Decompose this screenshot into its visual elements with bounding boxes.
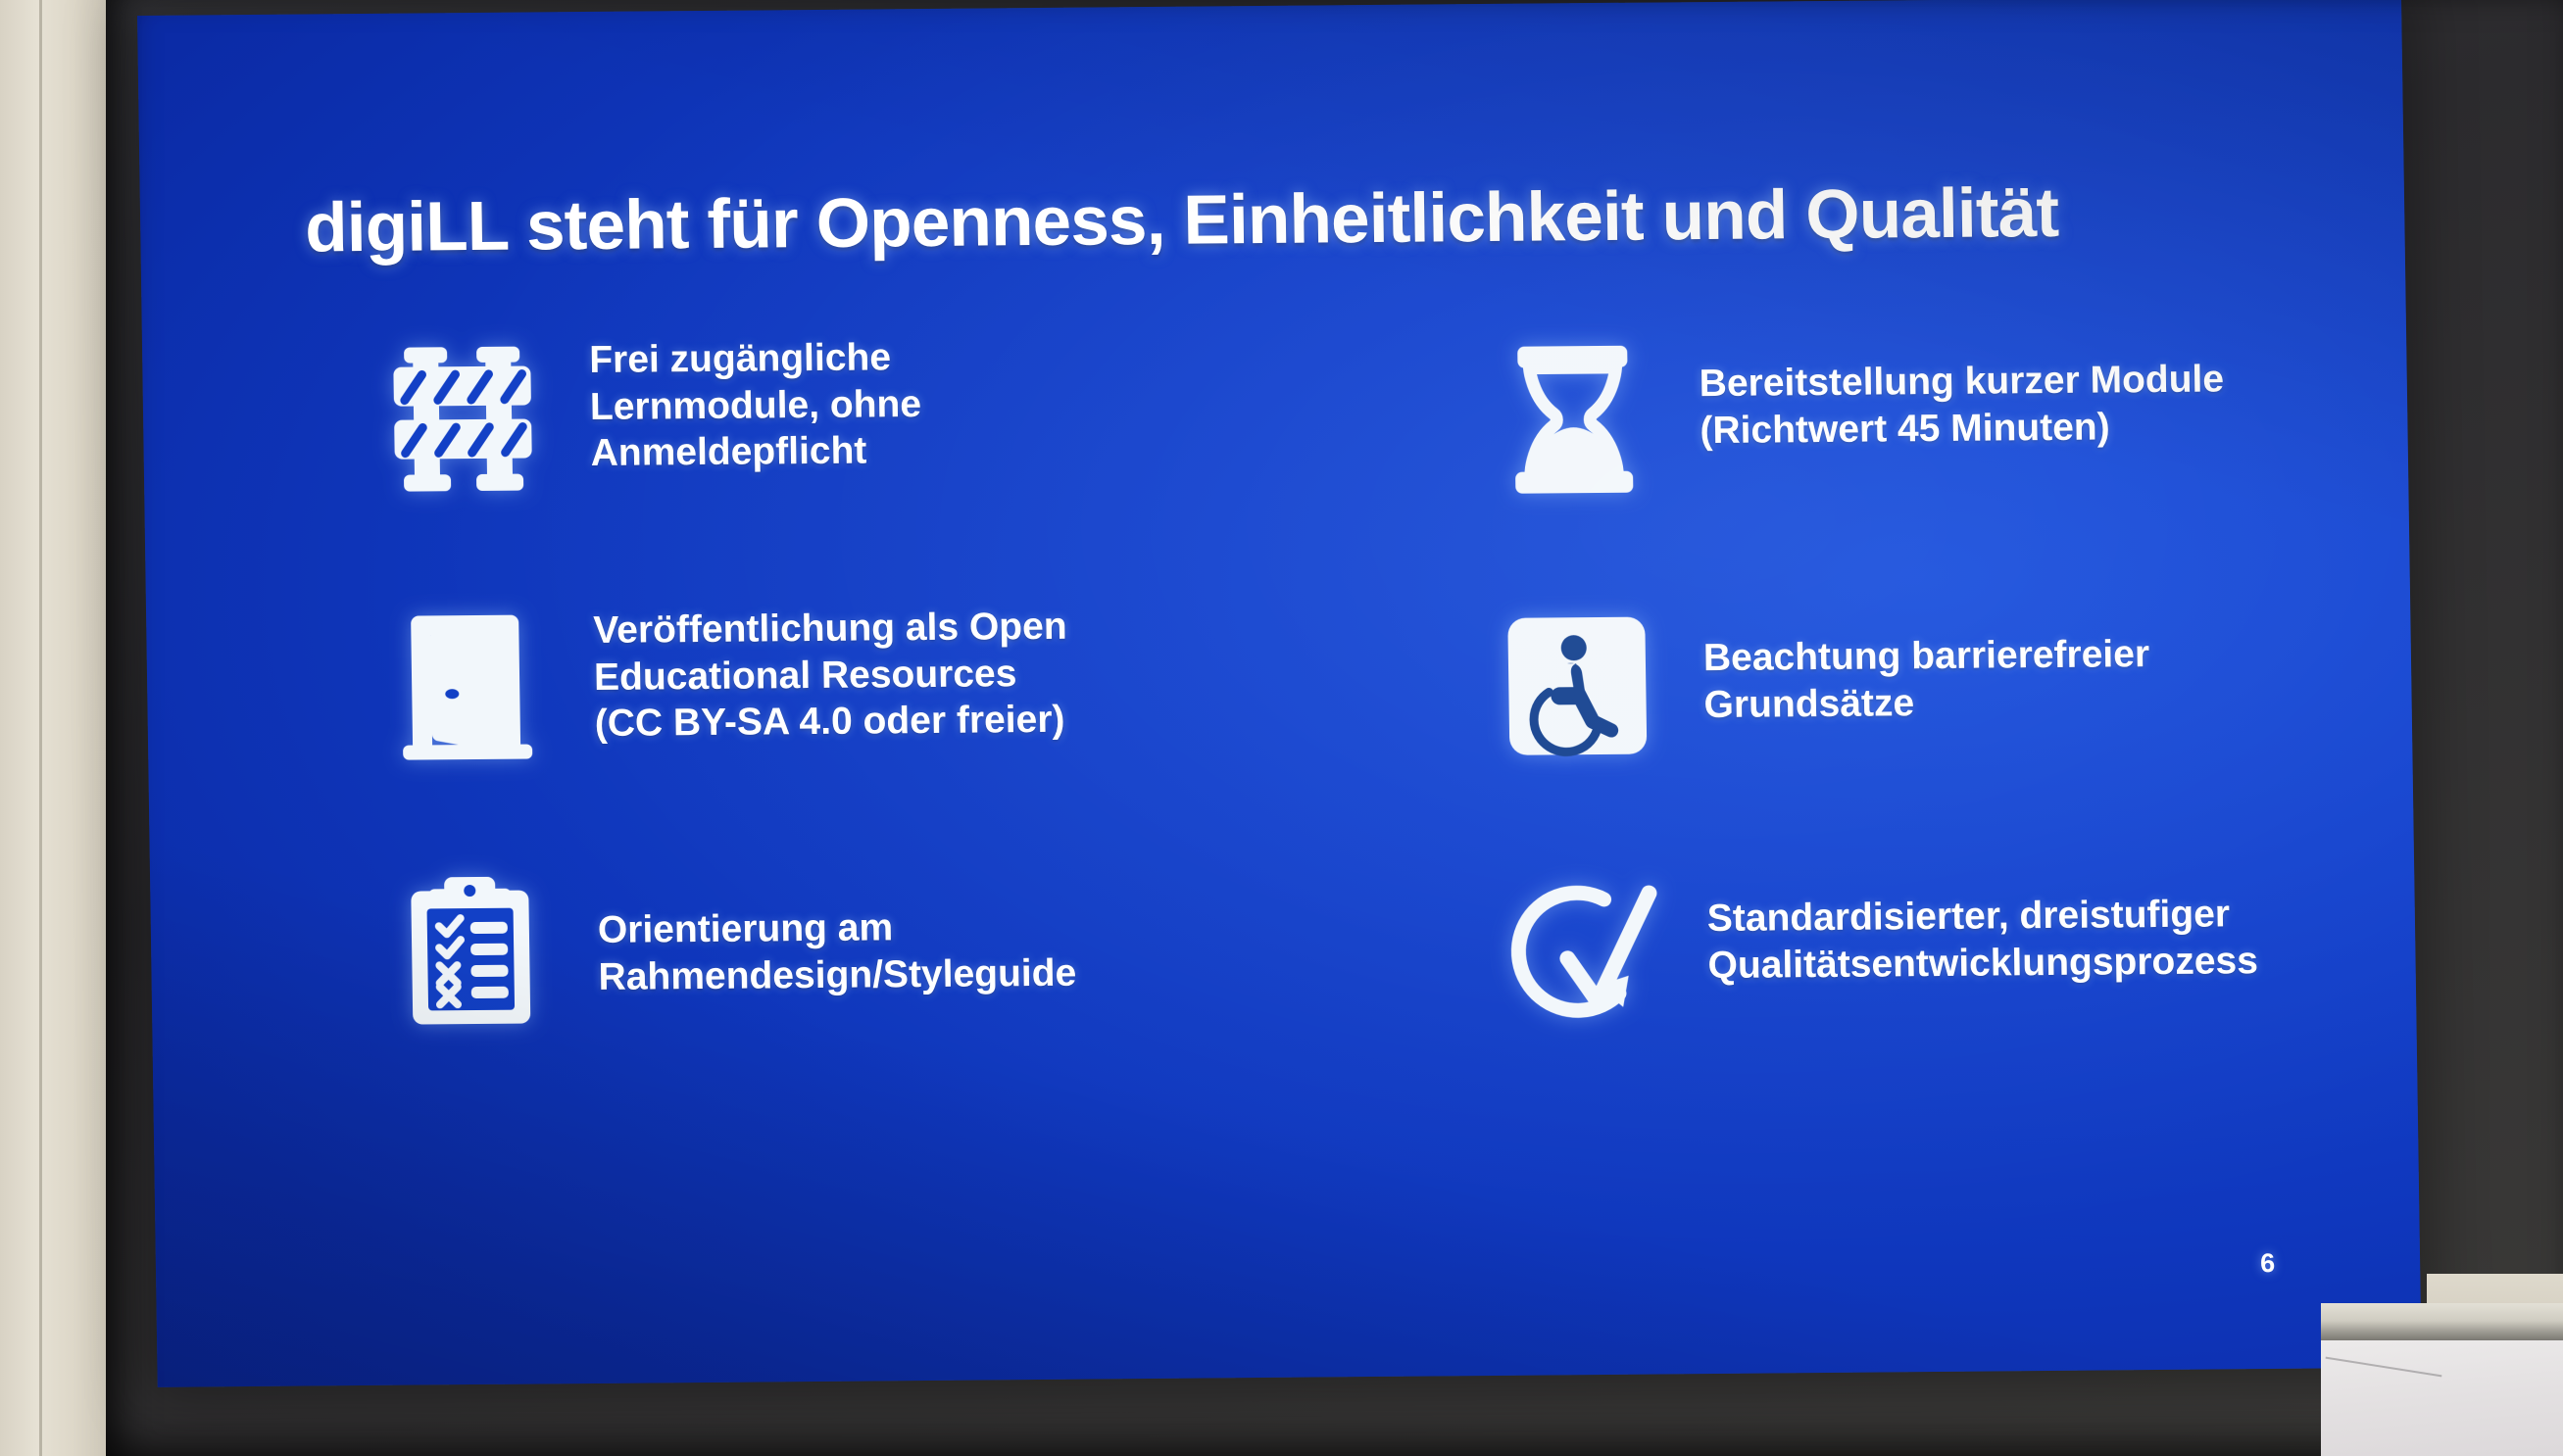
projected-slide: digiLL steht für Openness, Einheitlichke… bbox=[137, 0, 2422, 1387]
text-line: (Richtwert 45 Minuten) bbox=[1700, 403, 2225, 454]
left-column: Frei zugängliche Lernmodule, ohne Anmeld… bbox=[334, 328, 1373, 337]
text-line: Anmeldepflicht bbox=[590, 427, 922, 477]
feature-row-open-access: Frei zugängliche Lernmodule, ohne Anmeld… bbox=[334, 328, 1376, 504]
road-barrier-icon bbox=[334, 335, 592, 504]
flipchart-paper bbox=[2321, 1340, 2563, 1456]
room-wall-left bbox=[0, 0, 106, 1456]
feature-text-open-access: Frei zugängliche Lernmodule, ohne Anmeld… bbox=[589, 332, 922, 477]
text-line: Veröffentlichung als Open bbox=[593, 604, 1067, 655]
right-column: Bereitstellung kurzer Module (Richtwert … bbox=[1446, 319, 2422, 328]
slide-title: digiLL steht für Openness, Einheitlichke… bbox=[305, 173, 2059, 268]
clipboard-checklist-icon bbox=[342, 868, 600, 1037]
feature-text-styleguide: Orientierung am Rahmendesign/Styleguide bbox=[597, 864, 1077, 1000]
hourglass-icon bbox=[1446, 335, 1701, 504]
feature-row-styleguide: Orientierung am Rahmendesign/Styleguide bbox=[342, 861, 1384, 1037]
text-line: Orientierung am bbox=[598, 903, 1076, 954]
feature-row-quality-process: Standardisierter, dreistufiger Qualitäts… bbox=[1454, 860, 2422, 1036]
text-line: Standardisierter, dreistufiger bbox=[1706, 891, 2257, 942]
text-line: Frei zugängliche bbox=[589, 334, 921, 384]
feature-text-accessibility: Beachtung barrierefreier Grundsätze bbox=[1702, 598, 2150, 728]
text-line: Grundsätze bbox=[1703, 678, 2150, 729]
feature-text-module-length: Bereitstellung kurzer Module (Richtwert … bbox=[1699, 330, 2225, 454]
circular-arrow-checkmark-icon bbox=[1454, 866, 1709, 1035]
text-line: Educational Resources bbox=[594, 650, 1068, 701]
presentation-room-photo: digiLL steht für Openness, Einheitlichke… bbox=[0, 0, 2563, 1456]
feature-row-module-length: Bereitstellung kurzer Module (Richtwert … bbox=[1446, 329, 2422, 505]
text-line: Rahmendesign/Styleguide bbox=[598, 949, 1076, 1000]
slide-page-number: 6 bbox=[2260, 1248, 2275, 1279]
wheelchair-accessibility-icon bbox=[1450, 602, 1705, 770]
feature-row-accessibility: Beachtung barrierefreier Grundsätze bbox=[1450, 596, 2422, 771]
feature-text-oer-licence: Veröffentlichung als Open Educational Re… bbox=[593, 598, 1068, 748]
open-door-icon bbox=[338, 602, 596, 770]
feature-text-quality-process: Standardisierter, dreistufiger Qualitäts… bbox=[1706, 861, 2258, 989]
flipchart-board bbox=[2321, 1303, 2563, 1456]
slide-content-columns: Frei zugängliche Lernmodule, ohne Anmeld… bbox=[142, 319, 2406, 339]
text-line: (CC BY-SA 4.0 oder freier) bbox=[594, 697, 1068, 748]
text-line: Beachtung barrierefreier bbox=[1703, 631, 2150, 682]
feature-row-oer-licence: Veröffentlichung als Open Educational Re… bbox=[338, 595, 1380, 770]
text-line: Lernmodule, ohne bbox=[590, 381, 922, 431]
flipchart-rail bbox=[2321, 1303, 2563, 1342]
text-line: Bereitstellung kurzer Module bbox=[1699, 356, 2224, 407]
text-line: Qualitätsentwicklungsprozess bbox=[1707, 938, 2258, 989]
slide-canvas: digiLL steht für Openness, Einheitlichke… bbox=[137, 0, 2422, 1387]
